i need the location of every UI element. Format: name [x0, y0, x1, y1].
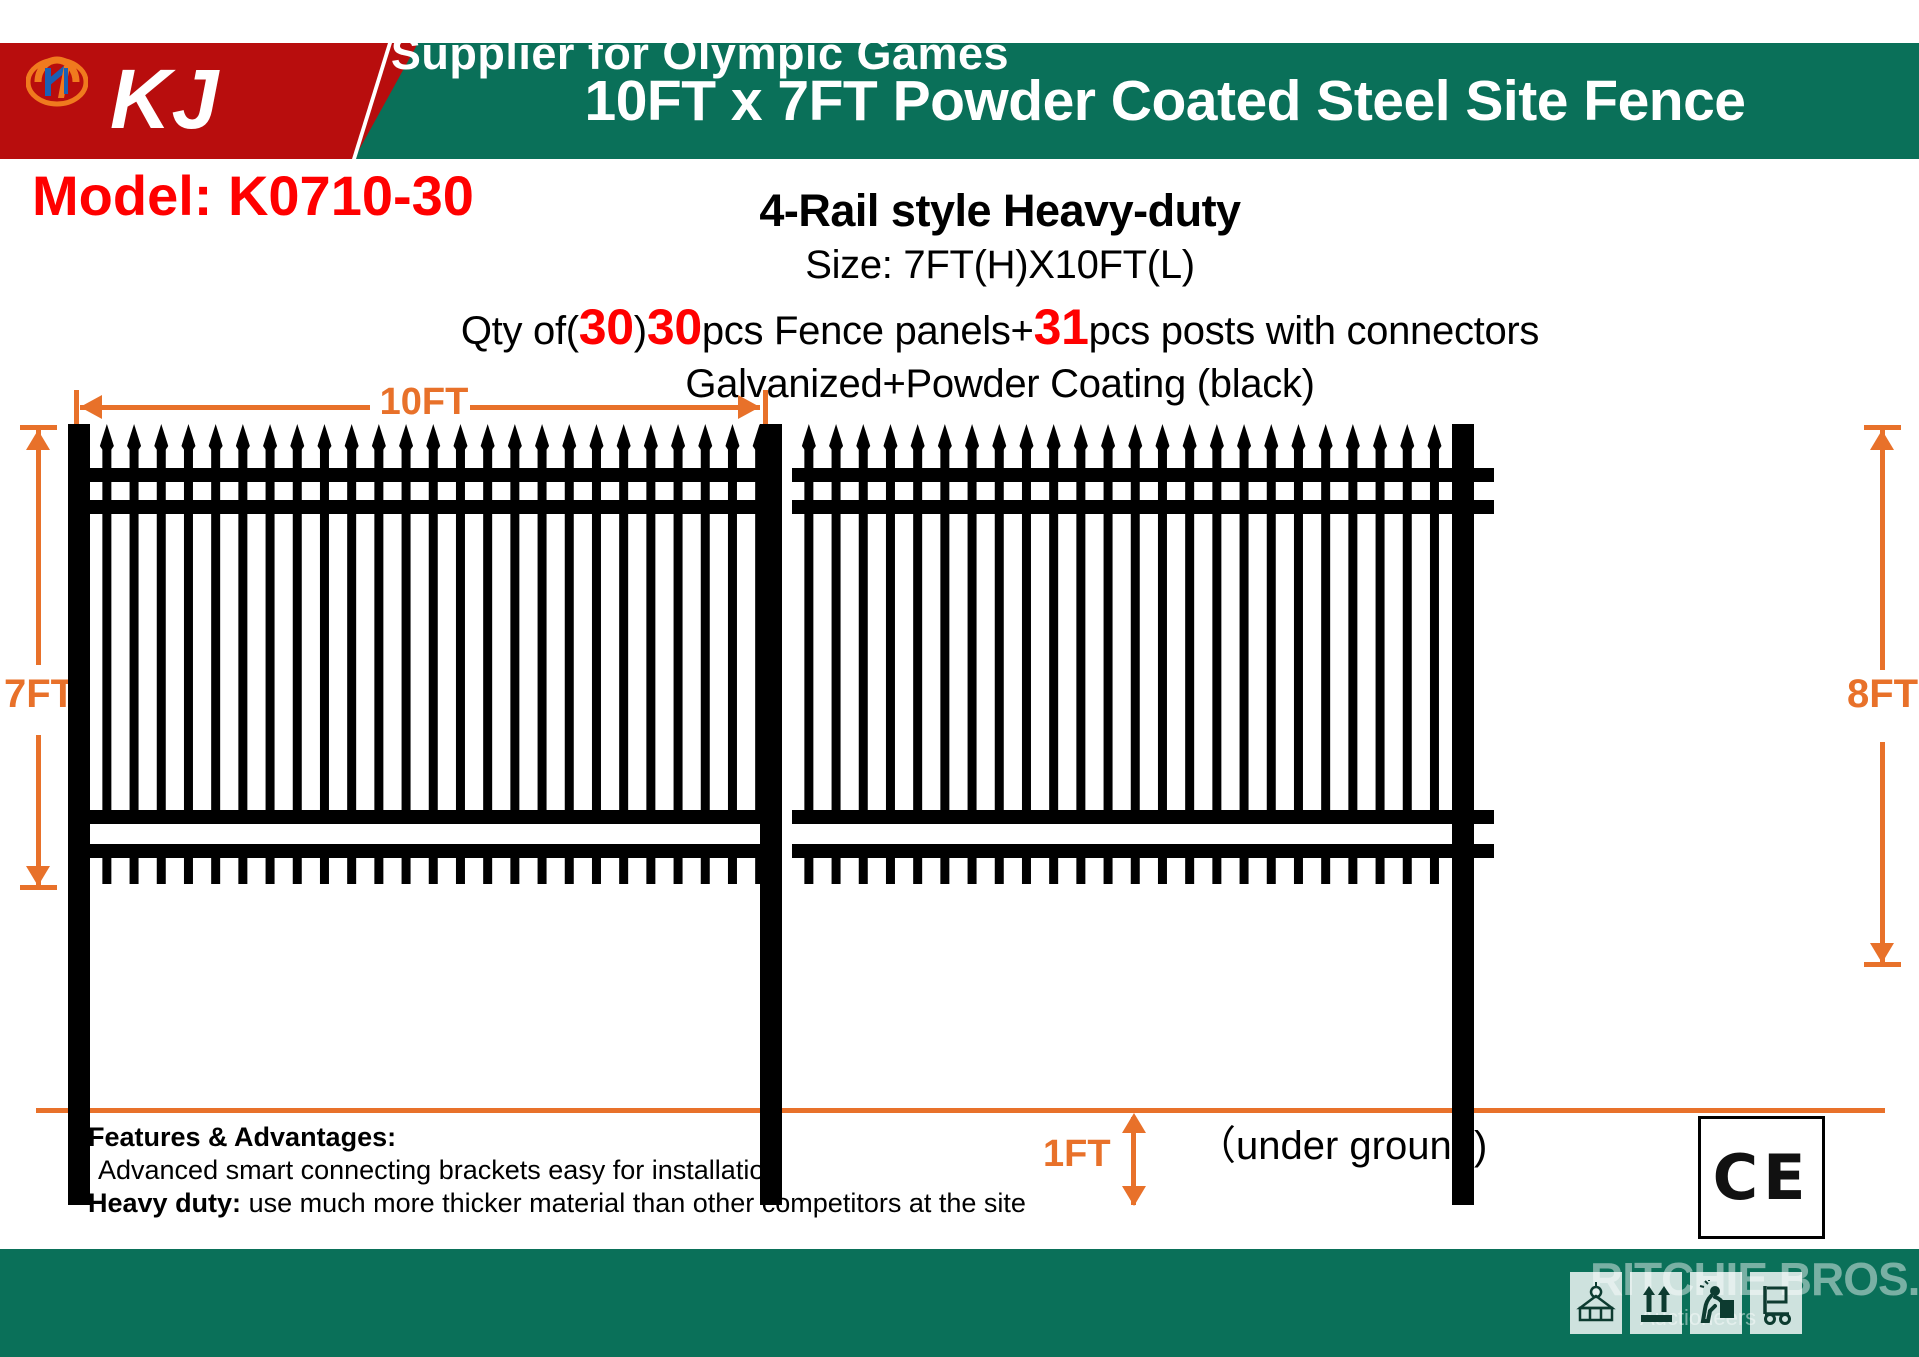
dim-1ft-label: 1FT	[1043, 1133, 1111, 1176]
dim-10ft-line-right	[470, 405, 760, 410]
dim-8ft-line-top	[1880, 425, 1885, 670]
hand-truck-icon	[1750, 1272, 1802, 1334]
dim-10ft-arrow-left	[80, 395, 102, 419]
spec-quantity-line: Qty of(30)30pcs Fence panels+31pcs posts…	[300, 298, 1700, 356]
spec-size-line: Size: 7FT(H)X10FT(L)	[300, 243, 1700, 288]
spec-style-line: 4-Rail style Heavy-duty	[300, 185, 1700, 237]
dim-7ft-label: 7FT	[4, 672, 75, 717]
features-heading: Features & Advantages:	[88, 1122, 1048, 1153]
spec-coating-line: Galvanized+Powder Coating (black)	[300, 362, 1700, 407]
dim-10ft-label: 10FT	[376, 381, 472, 424]
specification-block: 4-Rail style Heavy-duty Size: 7FT(H)X10F…	[300, 185, 1700, 407]
features-bullet-2: Heavy duty: use much more thicker materi…	[88, 1188, 1048, 1219]
qty-paren-value: 30	[579, 299, 634, 355]
dim-7ft-arrow-up	[26, 430, 50, 450]
features-bullet-2-text: use much more thicker material than othe…	[241, 1188, 1026, 1218]
ce-mark-text: CE	[1713, 1141, 1811, 1214]
dim-10ft-left-tick	[74, 390, 79, 426]
dim-10ft-line-left	[80, 405, 370, 410]
dim-10ft-arrow-right	[738, 395, 760, 419]
ce-mark-badge: CE	[1698, 1116, 1825, 1239]
features-bullet-1: Advanced smart connecting brackets easy …	[88, 1155, 1048, 1186]
crane-lift-icon	[1570, 1272, 1622, 1334]
ground-level-line	[36, 1108, 1885, 1113]
dim-7ft-line-top	[36, 425, 41, 665]
under-ground-note: （under ground)	[1196, 1113, 1487, 1171]
features-block: Features & Advantages: Advanced smart co…	[88, 1122, 1048, 1219]
qty-prefix: Qty of(	[461, 309, 579, 353]
qty-mid-text: pcs Fence panels+	[702, 309, 1034, 353]
dim-10ft-right-tick	[763, 390, 768, 426]
features-bullet-2-label: Heavy duty:	[88, 1188, 241, 1218]
manual-lifting-icon	[1690, 1272, 1742, 1334]
this-way-up-icon	[1630, 1272, 1682, 1334]
dim-1ft-arrow-up	[1122, 1113, 1146, 1133]
dim-1ft-arrow-down	[1122, 1186, 1146, 1206]
dim-8ft-arrow-down	[1870, 943, 1894, 963]
handling-pictograms	[1570, 1272, 1802, 1334]
qty-posts-value: 31	[1034, 299, 1089, 355]
dim-8ft-line-bottom	[1880, 742, 1885, 967]
qty-close-paren: )	[634, 309, 647, 353]
dim-7ft-arrow-down	[26, 866, 50, 886]
footer-tagline: Supplier for Olympic Games	[0, 0, 1400, 108]
qty-panel-value: 30	[647, 299, 702, 355]
qty-suffix-text: pcs posts with connectors	[1089, 309, 1540, 353]
dim-8ft-arrow-up	[1870, 430, 1894, 450]
dim-8ft-label: 8FT	[1847, 672, 1918, 717]
